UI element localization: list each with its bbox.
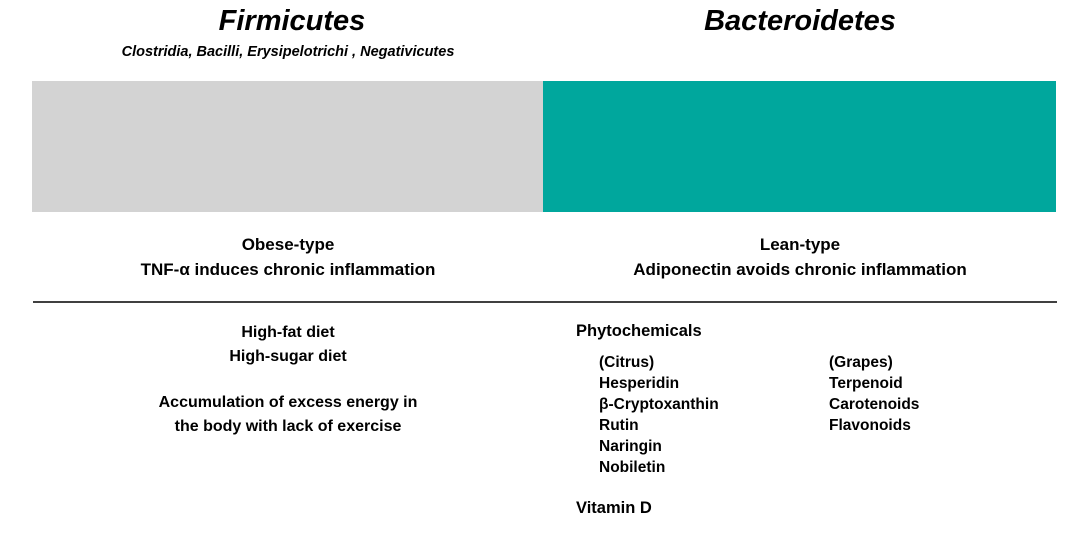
phytochemical-source-citrus: (Citrus) [599, 352, 814, 373]
phytochemicals-heading: Phytochemicals [576, 321, 1056, 342]
phenotype-detail-obese: TNF-α induces chronic inflammation [32, 257, 544, 282]
phenotype-label-obese: Obese-type [242, 235, 335, 254]
phytochemical-source-grapes: (Grapes) [829, 352, 1029, 373]
phytochemical-compound: Terpenoid [829, 373, 1029, 394]
phylum-title-bacteroidetes: Bacteroidetes [540, 4, 1060, 38]
phenotype-caption-obese: Obese-type TNF-α induces chronic inflamm… [32, 232, 544, 282]
phytochemical-compound: Rutin [599, 415, 814, 436]
obesity-factor-diet: High-fat diet High-sugar diet [32, 321, 544, 368]
phytochemical-compound: Naringin [599, 436, 814, 457]
phytochemical-compound: Nobiletin [599, 457, 814, 478]
section-divider [33, 301, 1057, 303]
obesity-factor-energy: Accumulation of excess energy in the bod… [32, 391, 544, 438]
gut-microbiota-phenotype-figure: Firmicutes Bacteroidetes Clostridia, Bac… [0, 0, 1091, 539]
phenotype-label-lean: Lean-type [760, 235, 840, 254]
obesity-factor-list: High-fat diet High-sugar diet Accumulati… [32, 321, 544, 438]
phylum-title-firmicutes: Firmicutes [0, 4, 584, 38]
obesity-factor-line: Accumulation of excess energy in [32, 391, 544, 415]
abundance-bar-row [32, 81, 1056, 212]
phytochemical-group-grapes: (Grapes) Terpenoid Carotenoids Flavonoid… [814, 352, 1029, 436]
phytochemical-compound: Hesperidin [599, 373, 814, 394]
phytochemical-group-citrus: (Citrus) Hesperidin β-Cryptoxanthin Ruti… [576, 352, 814, 478]
vitamin-d-label: Vitamin D [576, 498, 1056, 519]
phytochemical-compound: Carotenoids [829, 394, 1029, 415]
phytochemical-panel: Phytochemicals (Citrus) Hesperidin β-Cry… [576, 321, 1056, 519]
obesity-factor-line: the body with lack of exercise [32, 415, 544, 439]
phylum-subtitle-firmicutes: Clostridia, Bacilli, Erysipelotrichi , N… [0, 44, 576, 60]
phytochemical-group-row: (Citrus) Hesperidin β-Cryptoxanthin Ruti… [576, 352, 1056, 478]
phytochemical-compound: β-Cryptoxanthin [599, 394, 814, 415]
obesity-factor-line: High-sugar diet [32, 345, 544, 369]
phenotype-caption-lean: Lean-type Adiponectin avoids chronic inf… [544, 232, 1056, 282]
abundance-bar-bacteroidetes [543, 81, 1056, 212]
phytochemical-compound: Flavonoids [829, 415, 1029, 436]
abundance-bar-firmicutes [32, 81, 543, 212]
obesity-factor-line: High-fat diet [32, 321, 544, 345]
phenotype-detail-lean: Adiponectin avoids chronic inflammation [544, 257, 1056, 282]
